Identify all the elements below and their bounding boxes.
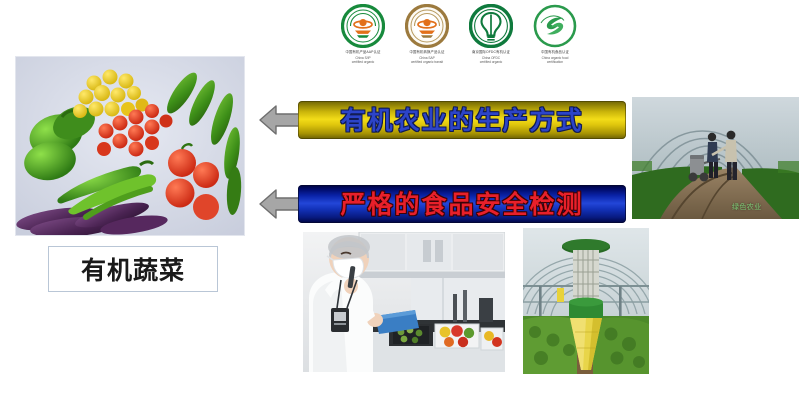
insect-trap-greenhouse-photo [523,228,649,374]
certification-label-en: China OFDC certified organic [480,56,503,65]
banner-organic-farming-method-label: 有机农业的生产方式 [340,108,583,133]
certification-label-cn: 中国有机产品AAP认证 [345,50,380,54]
certification-item: 中国有机产品AAP认证 China S/IP certified organic [334,4,392,64]
svg-text:绿色农业: 绿色农业 [732,202,762,211]
china-organic-transit-seal-icon [405,4,449,48]
certification-item: 中国有机转换产品认证 China SAP certified organic t… [398,4,456,64]
certification-label-en: China organic food certification [542,56,569,65]
slide-canvas: 中国有机产品AAP认证 China S/IP certified organic… [0,0,799,401]
certification-label-cn: 南京国际OFDC有机认证 [472,50,510,54]
banner-food-safety-testing: 严格的食品安全检测 [298,185,626,223]
food-safety-lab-photo [303,232,505,372]
certification-label-en: China S/IP certified organic [352,56,375,65]
organic-vegetables-caption-label: 有机蔬菜 [81,251,185,287]
certification-label-cn: 中国有机转换产品认证 [410,50,445,54]
certification-label-cn: 中国有机食品认证 [541,50,569,54]
china-green-food-aap-seal-icon [341,4,385,48]
banner-organic-farming-method: 有机农业的生产方式 [298,101,626,139]
certification-item: 中国有机食品认证 China organic food certificatio… [526,4,584,64]
organic-vegetables-photo [16,57,244,235]
certification-label-en: China SAP certified organic transit [411,56,443,65]
china-organic-food-seal-icon [533,4,577,48]
banner-food-safety-testing-label: 严格的食品安全检测 [340,192,583,217]
certification-logo-strip: 中国有机产品AAP认证 China S/IP certified organic… [334,4,584,78]
greenhouse-workers-photo: 绿色农业 [632,97,799,219]
organic-vegetables-caption: 有机蔬菜 [48,246,218,292]
certification-item: 南京国际OFDC有机认证 China OFDC certified organi… [462,4,520,64]
ofdc-organic-seal-icon [469,4,513,48]
